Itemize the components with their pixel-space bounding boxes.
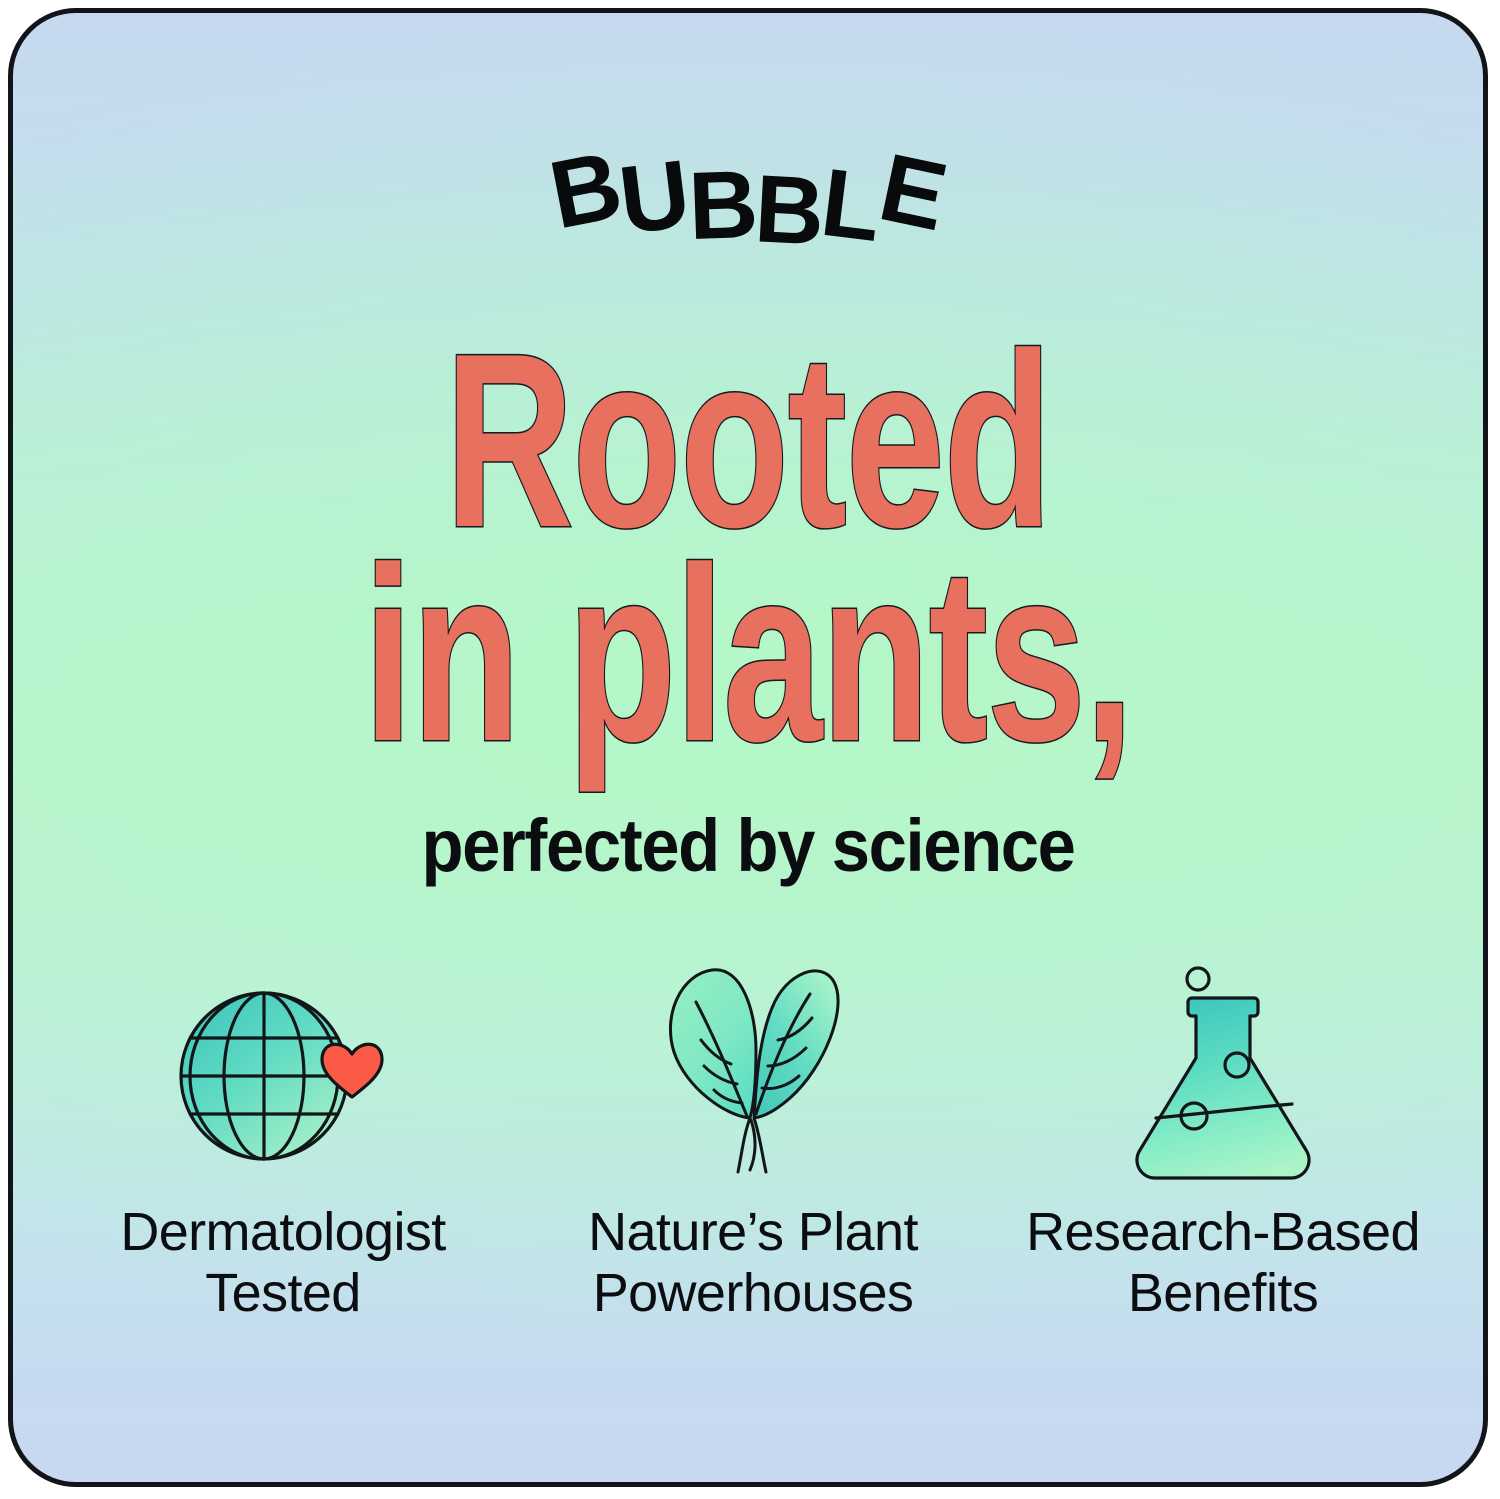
brand-letter: B	[752, 161, 825, 260]
feature-label: Nature’s Plant Powerhouses	[588, 1202, 918, 1324]
feature-item-research-based-benefits: Research-Based Benefits	[993, 958, 1453, 1324]
brand-logo: B U B B L E	[13, 141, 1483, 261]
brand-letter: L	[817, 155, 886, 257]
leaves-heart-icon	[638, 958, 868, 1188]
subheadline: perfected by science	[64, 809, 1431, 883]
brand-wordmark: B U B B L E	[551, 141, 945, 237]
feature-label: Dermatologist Tested	[120, 1202, 445, 1324]
feature-item-natures-plant-powerhouses: Nature’s Plant Powerhouses	[523, 958, 983, 1324]
brand-letter: B	[687, 157, 759, 255]
feature-label: Research-Based Benefits	[1026, 1202, 1420, 1324]
feature-item-dermatologist-tested: Dermatologist Tested	[53, 958, 513, 1324]
flask-icon	[1108, 958, 1338, 1188]
feature-row: Dermatologist Tested	[53, 958, 1453, 1324]
brand-letter: U	[615, 146, 695, 250]
promo-card: B U B B L E Rooted in plants, perfected …	[8, 8, 1488, 1487]
headline-line-2: in plants,	[219, 543, 1277, 766]
headline-block: Rooted in plants,	[13, 331, 1483, 766]
globe-heart-icon	[168, 958, 398, 1188]
